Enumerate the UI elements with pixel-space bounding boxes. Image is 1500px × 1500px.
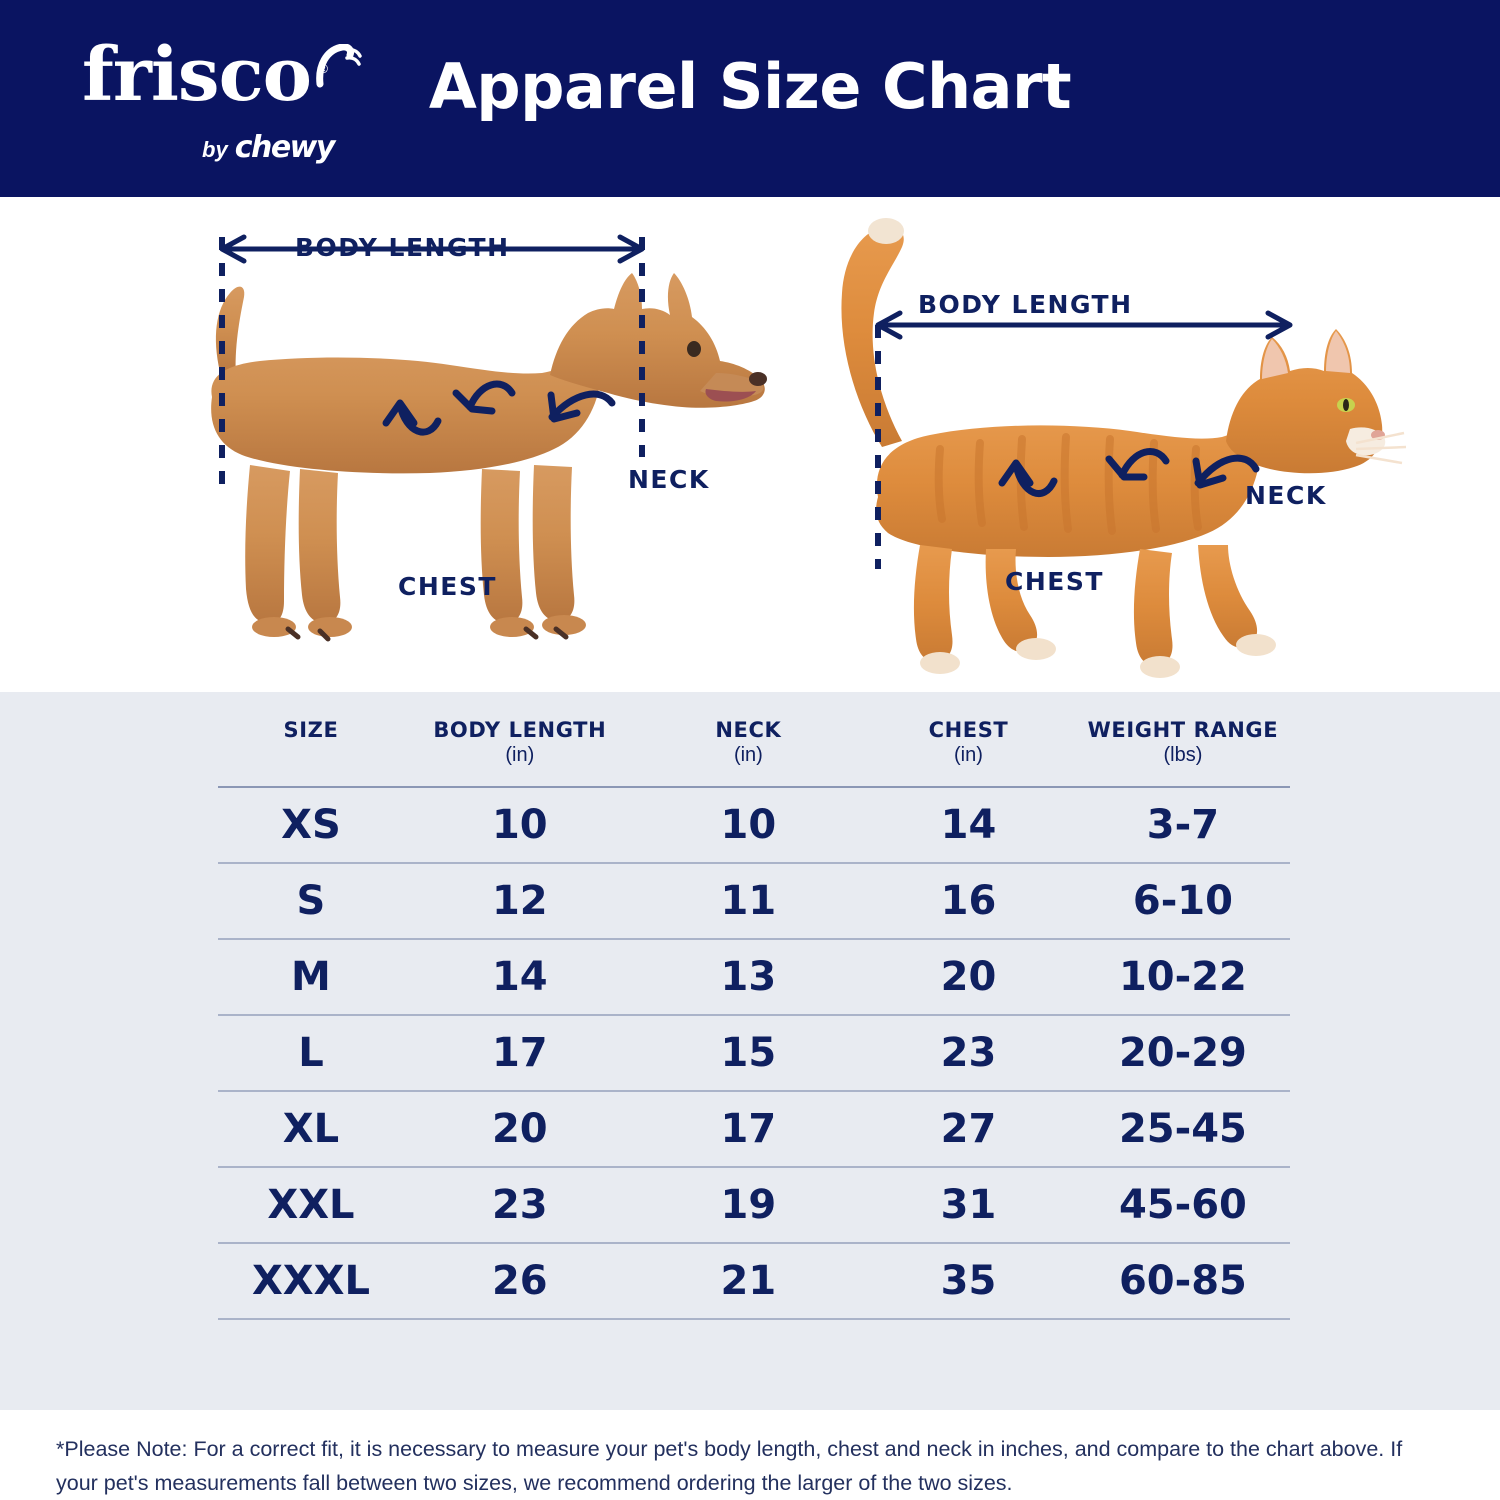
cat-paw-4 xyxy=(1236,634,1276,656)
dog-front-leg-near xyxy=(533,465,575,621)
table-row: XS 10 10 14 3-7 xyxy=(218,787,1290,863)
cell-body-length: 26 xyxy=(404,1243,636,1319)
cell-neck: 17 xyxy=(636,1091,861,1167)
column-header-chest: CHEST (in) xyxy=(861,717,1076,787)
cell-chest: 16 xyxy=(861,863,1076,939)
table-body: XS 10 10 14 3-7 S 12 11 16 6-10 M 14 13 xyxy=(218,787,1290,1319)
page-title: Apparel Size Chart xyxy=(0,50,1500,123)
cat-chest-label: CHEST xyxy=(1005,567,1104,596)
cell-size: XXL xyxy=(218,1167,404,1243)
column-header-body-length-unit: (in) xyxy=(405,743,635,768)
cat-hind-leg-far xyxy=(914,545,953,661)
cell-weight: 25-45 xyxy=(1076,1091,1290,1167)
cell-neck: 15 xyxy=(636,1015,861,1091)
illustration-band: BODY LENGTH NECK CHEST xyxy=(0,197,1500,692)
cat-body-length-label: BODY LENGTH xyxy=(918,290,1133,319)
column-header-size: SIZE xyxy=(218,717,404,787)
cell-weight: 45-60 xyxy=(1076,1167,1290,1243)
dog-hind-leg-far xyxy=(245,465,290,623)
cat-front-leg-near xyxy=(1198,545,1257,648)
dog-measurement-diagram: BODY LENGTH NECK CHEST xyxy=(150,197,770,692)
cell-body-length: 20 xyxy=(404,1091,636,1167)
table-row: XXXL 26 21 35 60-85 xyxy=(218,1243,1290,1319)
table-head: SIZE BODY LENGTH (in) NECK (in) CHEST (i… xyxy=(218,717,1290,787)
dog-body-length-label: BODY LENGTH xyxy=(295,233,510,262)
column-header-size-label: SIZE xyxy=(283,718,338,742)
size-chart-table: SIZE BODY LENGTH (in) NECK (in) CHEST (i… xyxy=(218,717,1290,1320)
cell-weight: 10-22 xyxy=(1076,939,1290,1015)
column-header-chest-unit: (in) xyxy=(862,743,1075,768)
cell-body-length: 10 xyxy=(404,787,636,863)
table-row: L 17 15 23 20-29 xyxy=(218,1015,1290,1091)
column-header-neck: NECK (in) xyxy=(636,717,861,787)
cell-size: XS xyxy=(218,787,404,863)
table-row: S 12 11 16 6-10 xyxy=(218,863,1290,939)
cell-weight: 60-85 xyxy=(1076,1243,1290,1319)
cat-pupil xyxy=(1343,399,1349,411)
cat-ear-near xyxy=(1326,331,1350,373)
cell-size: L xyxy=(218,1015,404,1091)
column-header-body-length-label: BODY LENGTH xyxy=(433,718,606,742)
cat-tail-tip xyxy=(868,218,904,244)
cell-weight: 20-29 xyxy=(1076,1015,1290,1091)
cat-ear-far xyxy=(1262,339,1288,379)
cat-illustration xyxy=(790,197,1410,692)
cell-chest: 23 xyxy=(861,1015,1076,1091)
cell-neck: 13 xyxy=(636,939,861,1015)
cat-paw-1 xyxy=(920,652,960,674)
cell-neck: 19 xyxy=(636,1167,861,1243)
cat-front-leg-far xyxy=(1134,549,1173,665)
table-row: XXL 23 19 31 45-60 xyxy=(218,1167,1290,1243)
cell-chest: 20 xyxy=(861,939,1076,1015)
cat-measurement-diagram: BODY LENGTH NECK CHEST xyxy=(790,197,1410,692)
cat-paw-3 xyxy=(1140,656,1180,678)
table-header-row: SIZE BODY LENGTH (in) NECK (in) CHEST (i… xyxy=(218,717,1290,787)
footnote-section: *Please Note: For a correct fit, it is n… xyxy=(0,1410,1500,1500)
table-row: M 14 13 20 10-22 xyxy=(218,939,1290,1015)
chewy-wordmark: chewy xyxy=(235,130,334,165)
column-header-weight-range: WEIGHT RANGE (lbs) xyxy=(1076,717,1290,787)
column-header-chest-label: CHEST xyxy=(929,718,1009,742)
cell-size: XXXL xyxy=(218,1243,404,1319)
cell-body-length: 12 xyxy=(404,863,636,939)
dog-illustration xyxy=(150,197,770,692)
brand-by-text: by xyxy=(202,137,228,163)
cell-body-length: 23 xyxy=(404,1167,636,1243)
cell-size: XL xyxy=(218,1091,404,1167)
dog-paw-2 xyxy=(308,617,352,637)
cat-paw-2 xyxy=(1016,638,1056,660)
footnote-text: *Please Note: For a correct fit, it is n… xyxy=(56,1432,1448,1500)
dog-nose xyxy=(749,372,767,386)
cell-size: M xyxy=(218,939,404,1015)
cell-neck: 21 xyxy=(636,1243,861,1319)
cell-chest: 31 xyxy=(861,1167,1076,1243)
dog-hind-leg-near xyxy=(299,469,341,623)
dog-paw-4 xyxy=(542,615,586,635)
brand-sublogo: by chewy xyxy=(202,130,334,165)
column-header-neck-label: NECK xyxy=(715,718,781,742)
dog-body xyxy=(211,331,602,473)
cell-chest: 27 xyxy=(861,1091,1076,1167)
page-header: frisco ® by chewy Apparel Size Chart xyxy=(0,0,1500,197)
cell-body-length: 14 xyxy=(404,939,636,1015)
dog-eye xyxy=(687,341,701,357)
dog-chest-label: CHEST xyxy=(398,572,497,601)
cell-weight: 3-7 xyxy=(1076,787,1290,863)
column-header-weight-range-label: WEIGHT RANGE xyxy=(1088,718,1279,742)
table-row: XL 20 17 27 25-45 xyxy=(218,1091,1290,1167)
cell-neck: 10 xyxy=(636,787,861,863)
cell-size: S xyxy=(218,863,404,939)
cell-chest: 14 xyxy=(861,787,1076,863)
cell-neck: 11 xyxy=(636,863,861,939)
column-header-weight-range-unit: (lbs) xyxy=(1077,743,1289,768)
cell-weight: 6-10 xyxy=(1076,863,1290,939)
cat-neck-label: NECK xyxy=(1245,481,1327,510)
cell-body-length: 17 xyxy=(404,1015,636,1091)
cell-chest: 35 xyxy=(861,1243,1076,1319)
column-header-neck-unit: (in) xyxy=(637,743,860,768)
size-table-section: SIZE BODY LENGTH (in) NECK (in) CHEST (i… xyxy=(0,692,1500,1410)
column-header-body-length: BODY LENGTH (in) xyxy=(404,717,636,787)
apparel-size-chart-page: frisco ® by chewy Apparel Size Chart xyxy=(0,0,1500,1500)
cat-hind-leg-near xyxy=(986,549,1037,652)
dog-neck-label: NECK xyxy=(628,465,710,494)
